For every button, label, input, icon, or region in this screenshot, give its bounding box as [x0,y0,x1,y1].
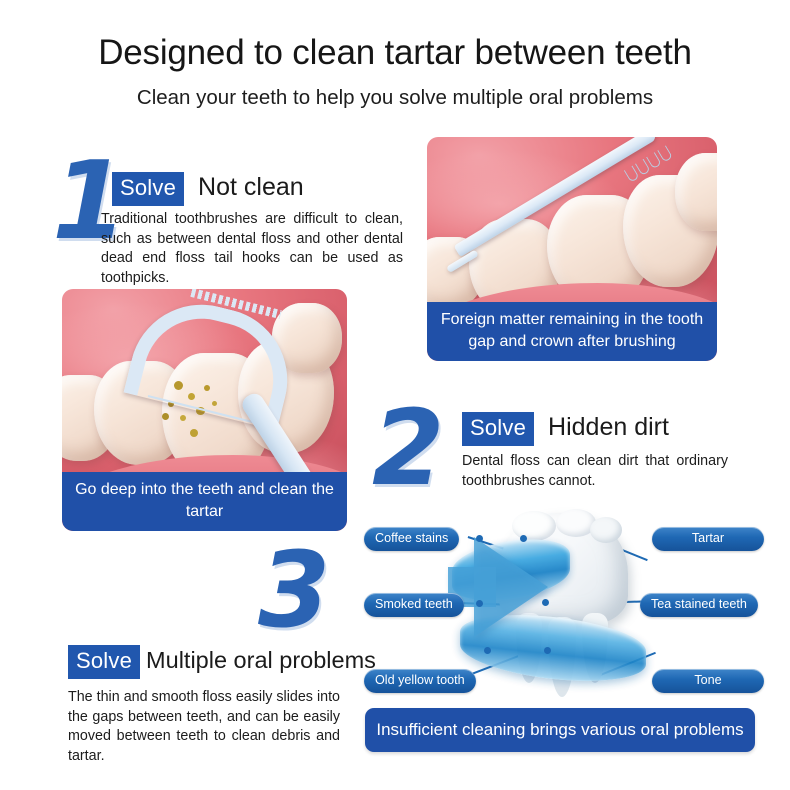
photo-card-floss-pick: Go deep into the teeth and clean the tar… [62,289,347,531]
section-3-body: The thin and smooth floss easily slides … [68,688,340,766]
section-1-heading: Not clean [198,173,304,202]
section-1-heading-row: Solve Not clean [112,172,304,206]
label-tartar[interactable]: Tartar [652,527,764,551]
callout-dot [484,647,491,654]
section-2-heading-row: Solve Hidden dirt [462,412,669,446]
section-2-body: Dental floss can clean dirt that ordinar… [462,452,728,491]
callout-dot [542,599,549,606]
page-title: Designed to clean tartar between teeth [0,32,790,74]
label-coffee-stains[interactable]: Coffee stains [364,527,459,551]
section-3-heading-row: Solve Multiple oral problems [68,645,376,679]
tooth-problems-diagram: Coffee stains Smoked teeth Old yellow to… [360,505,780,705]
infographic-page: Designed to clean tartar between teeth C… [0,0,790,790]
tooth-3d-graphic [478,513,648,693]
photo-1-caption: Foreign matter remaining in the tooth ga… [427,302,717,361]
solve-badge-2: Solve [462,412,534,446]
callout-dot [476,535,483,542]
label-tea-stained-teeth[interactable]: Tea stained teeth [640,593,758,617]
diagram-banner: Insufficient cleaning brings various ora… [365,708,755,752]
callout-dot [544,647,551,654]
label-old-yellow-tooth[interactable]: Old yellow tooth [364,669,476,693]
page-subtitle: Clean your teeth to help you solve multi… [0,85,790,111]
callout-dot [520,535,527,542]
section-2-numeral: 2 [372,396,444,500]
section-1-body: Traditional toothbrushes are difficult t… [101,210,403,288]
label-tone[interactable]: Tone [652,669,764,693]
solve-badge-3: Solve [68,645,140,679]
section-3-heading: Multiple oral problems [146,647,376,674]
section-3-numeral: 3 [258,538,330,642]
solve-badge-1: Solve [112,172,184,206]
label-smoked-teeth[interactable]: Smoked teeth [364,593,464,617]
photo-card-toothpick: Foreign matter remaining in the tooth ga… [427,137,717,361]
callout-dot [476,600,483,607]
section-2-heading: Hidden dirt [548,413,669,442]
photo-2-caption: Go deep into the teeth and clean the tar… [62,472,347,531]
